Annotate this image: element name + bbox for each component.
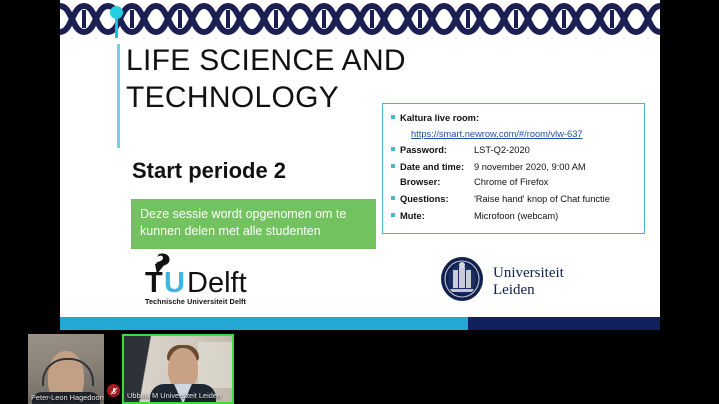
- bullet-spacer-icon: [391, 176, 400, 189]
- participant-name-2: Ubbink M Universiteit Leiden: [124, 391, 232, 401]
- slide-title-line-1: LIFE SCIENCE AND: [126, 42, 456, 79]
- recording-notice-banner: Deze sessie wordt opgenomen om te kunnen…: [131, 199, 376, 249]
- tudelft-logo: T U Delft Technische Universiteit Delft: [145, 252, 315, 306]
- tudelft-tagline: Technische Universiteit Delft: [145, 297, 315, 306]
- bullet-icon: [391, 161, 400, 168]
- info-key: Date and time:: [400, 161, 474, 174]
- leiden-seal-icon: [440, 256, 484, 307]
- info-value: Microfoon (webcam): [474, 210, 638, 223]
- participant-filmstrip: Peter-Leon Hagedoorn Ubbink M Universite…: [0, 330, 719, 404]
- footer-bar-navy: [468, 317, 660, 330]
- dna-helix-decoration: [60, 0, 660, 38]
- title-accent-bar: [117, 44, 120, 148]
- leiden-word-2: Leiden: [493, 282, 564, 299]
- svg-text:Delft: Delft: [187, 267, 247, 294]
- bullet-icon: [391, 193, 400, 200]
- universiteit-leiden-logo: Universiteit Leiden: [440, 256, 564, 307]
- leiden-word-1: Universiteit: [493, 265, 564, 282]
- presentation-slide: LIFE SCIENCE AND TECHNOLOGY Start period…: [60, 0, 660, 330]
- mic-muted-icon[interactable]: [107, 384, 120, 397]
- info-value: 9 november 2020, 9:00 AM: [474, 161, 638, 174]
- slide-footer-bar: [60, 317, 660, 330]
- bullet-icon: [391, 112, 400, 119]
- participant-name-1: Peter-Leon Hagedoorn: [28, 393, 104, 403]
- info-row-url: https://smart.newrow.com/#/room/vlw-637: [391, 129, 638, 139]
- info-value: 'Raise hand' knop of Chat functie: [474, 193, 638, 206]
- info-row-questions: Questions: 'Raise hand' knop of Chat fun…: [391, 193, 638, 206]
- info-row-date-time: Date and time: 9 november 2020, 9:00 AM: [391, 161, 638, 174]
- info-key: Kaltura live room:: [400, 112, 638, 125]
- footer-bar-cyan: [60, 317, 468, 330]
- tudelft-wordmark: T U Delft: [145, 252, 315, 294]
- leiden-wordmark: Universiteit Leiden: [493, 265, 564, 299]
- info-key: Questions:: [400, 193, 474, 206]
- slide-subtitle: Start periode 2: [132, 158, 286, 184]
- kaltura-room-link[interactable]: https://smart.newrow.com/#/room/vlw-637: [411, 129, 583, 139]
- svg-text:T: T: [145, 267, 163, 294]
- info-key: Browser:: [400, 176, 474, 189]
- info-key: Password:: [400, 144, 474, 157]
- video-conference-screen: LIFE SCIENCE AND TECHNOLOGY Start period…: [0, 0, 719, 404]
- info-row-mute: Mute: Microfoon (webcam): [391, 210, 638, 223]
- info-row-password: Password: LST-Q2-2020: [391, 144, 638, 157]
- participant-tile-2[interactable]: Ubbink M Universiteit Leiden: [122, 334, 234, 404]
- meeting-info-box: Kaltura live room: https://smart.newrow.…: [382, 103, 645, 234]
- info-row-browser: Browser: Chrome of Firefox: [391, 176, 638, 189]
- svg-text:U: U: [164, 267, 185, 294]
- info-row-kaltura: Kaltura live room:: [391, 112, 638, 125]
- dna-pin-dot-icon: [110, 6, 123, 19]
- bullet-icon: [391, 210, 400, 217]
- bullet-icon: [391, 144, 400, 151]
- participant-tile-1[interactable]: Peter-Leon Hagedoorn: [28, 334, 104, 404]
- info-value: Chrome of Firefox: [474, 176, 638, 189]
- info-value: LST-Q2-2020: [474, 144, 638, 157]
- info-key: Mute:: [400, 210, 474, 223]
